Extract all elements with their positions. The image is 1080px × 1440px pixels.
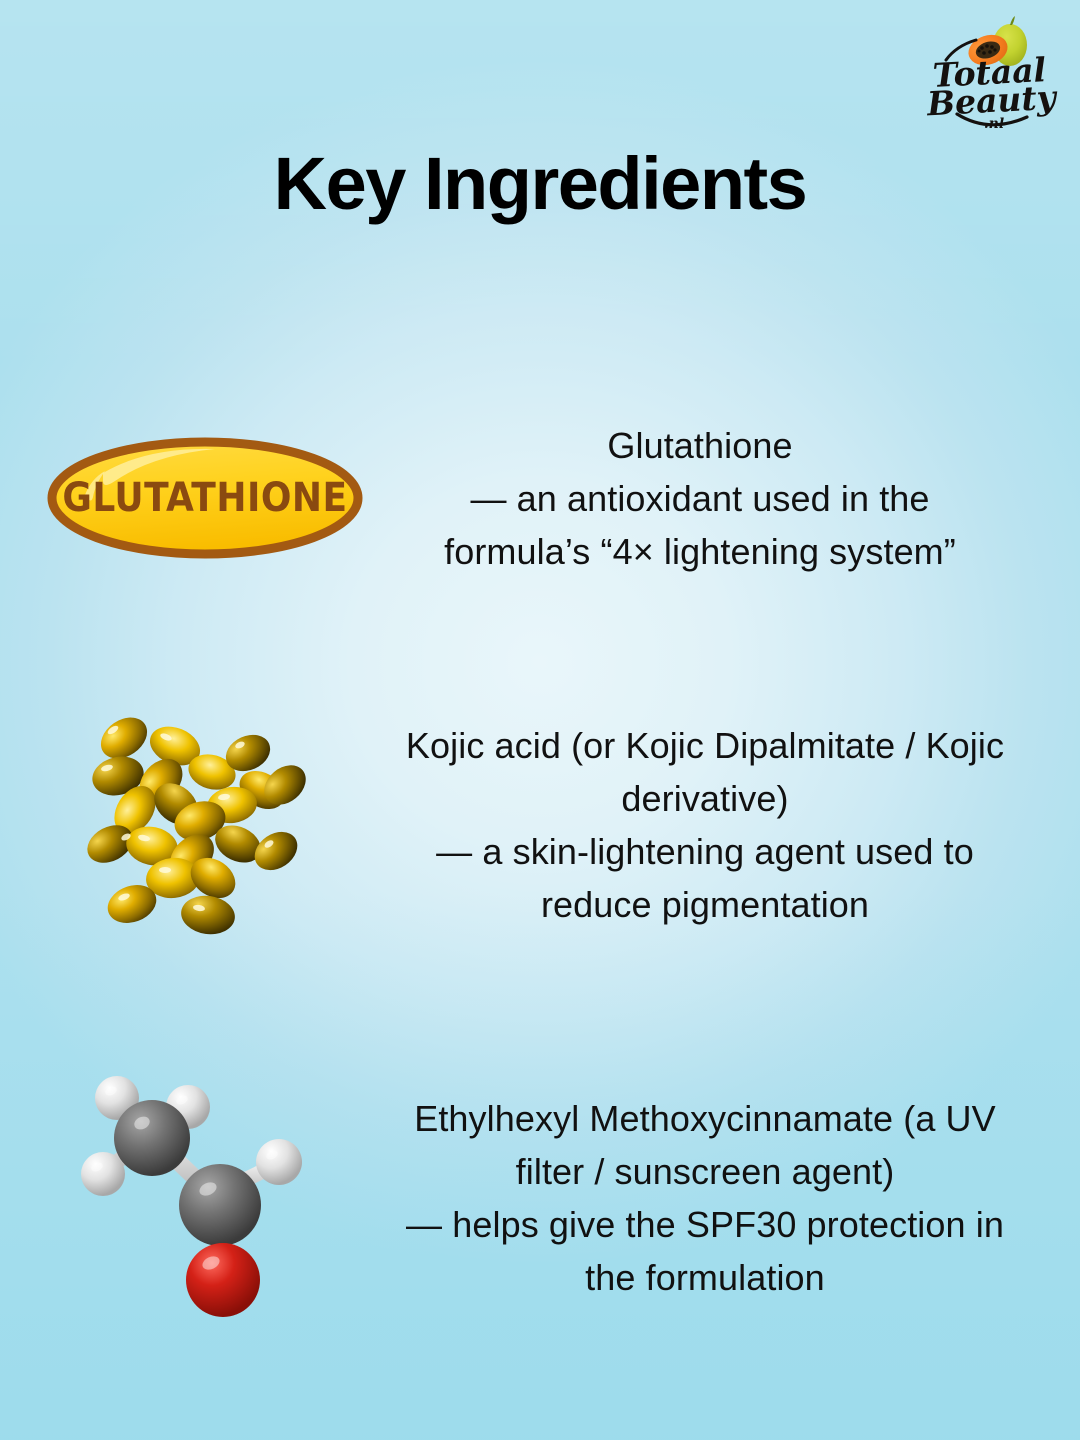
carbon-atom bbox=[179, 1164, 261, 1246]
desc-line: — helps give the SPF30 protection in bbox=[370, 1198, 1040, 1251]
desc-line: reduce pigmentation bbox=[370, 878, 1040, 931]
glutathione-capsule-icon: GLUTATHIONE bbox=[52, 442, 358, 554]
softgel-capsules-art bbox=[40, 708, 370, 943]
logo-word-nl: .nl bbox=[984, 116, 1004, 132]
softgel-capsule-cluster-icon bbox=[81, 709, 314, 937]
desc-line: formula’s “4× lightening system” bbox=[370, 525, 1030, 578]
desc-line: Kojic acid (or Kojic Dipalmitate / Kojic bbox=[370, 719, 1040, 772]
ingredient-description-ethylhexyl-methoxycinnamate: Ethylhexyl Methoxycinnamate (a UV filter… bbox=[370, 1092, 1040, 1304]
molecule-ball-and-stick-icon bbox=[81, 1076, 302, 1317]
desc-line: Glutathione bbox=[370, 419, 1030, 472]
molecule-model-art bbox=[40, 1073, 370, 1323]
ingredient-row-ethylhexyl-methoxycinnamate: Ethylhexyl Methoxycinnamate (a UV filter… bbox=[40, 1068, 1040, 1328]
desc-line: — an antioxidant used in the bbox=[370, 472, 1030, 525]
desc-line: the formulation bbox=[370, 1251, 1040, 1304]
desc-line: — a skin-lightening agent used to bbox=[370, 825, 1040, 878]
glutathione-pill-art: GLUTATHIONE bbox=[40, 433, 370, 563]
ingredient-description-kojic-acid: Kojic acid (or Kojic Dipalmitate / Kojic… bbox=[370, 719, 1040, 931]
ingredient-row-kojic-acid: Kojic acid (or Kojic Dipalmitate / Kojic… bbox=[40, 700, 1040, 950]
brand-logo[interactable]: Totaal Beauty .nl bbox=[916, 14, 1066, 134]
carbon-atom bbox=[114, 1100, 190, 1176]
desc-line: Ethylhexyl Methoxycinnamate (a UV bbox=[370, 1092, 1040, 1145]
pill-label: GLUTATHIONE bbox=[62, 475, 347, 521]
poster-canvas: Totaal Beauty .nl Key Ingredients bbox=[0, 0, 1080, 1440]
ingredient-row-glutathione: GLUTATHIONE Glutathione — an antioxidant… bbox=[40, 398, 1040, 598]
page-title: Key Ingredients bbox=[0, 144, 1080, 224]
oxygen-atom bbox=[186, 1243, 260, 1317]
desc-line: filter / sunscreen agent) bbox=[370, 1145, 1040, 1198]
hydrogen-atom bbox=[256, 1139, 302, 1185]
desc-line: derivative) bbox=[370, 772, 1040, 825]
ingredient-description-glutathione: Glutathione — an antioxidant used in the… bbox=[370, 419, 1040, 578]
hydrogen-atom bbox=[81, 1152, 125, 1196]
